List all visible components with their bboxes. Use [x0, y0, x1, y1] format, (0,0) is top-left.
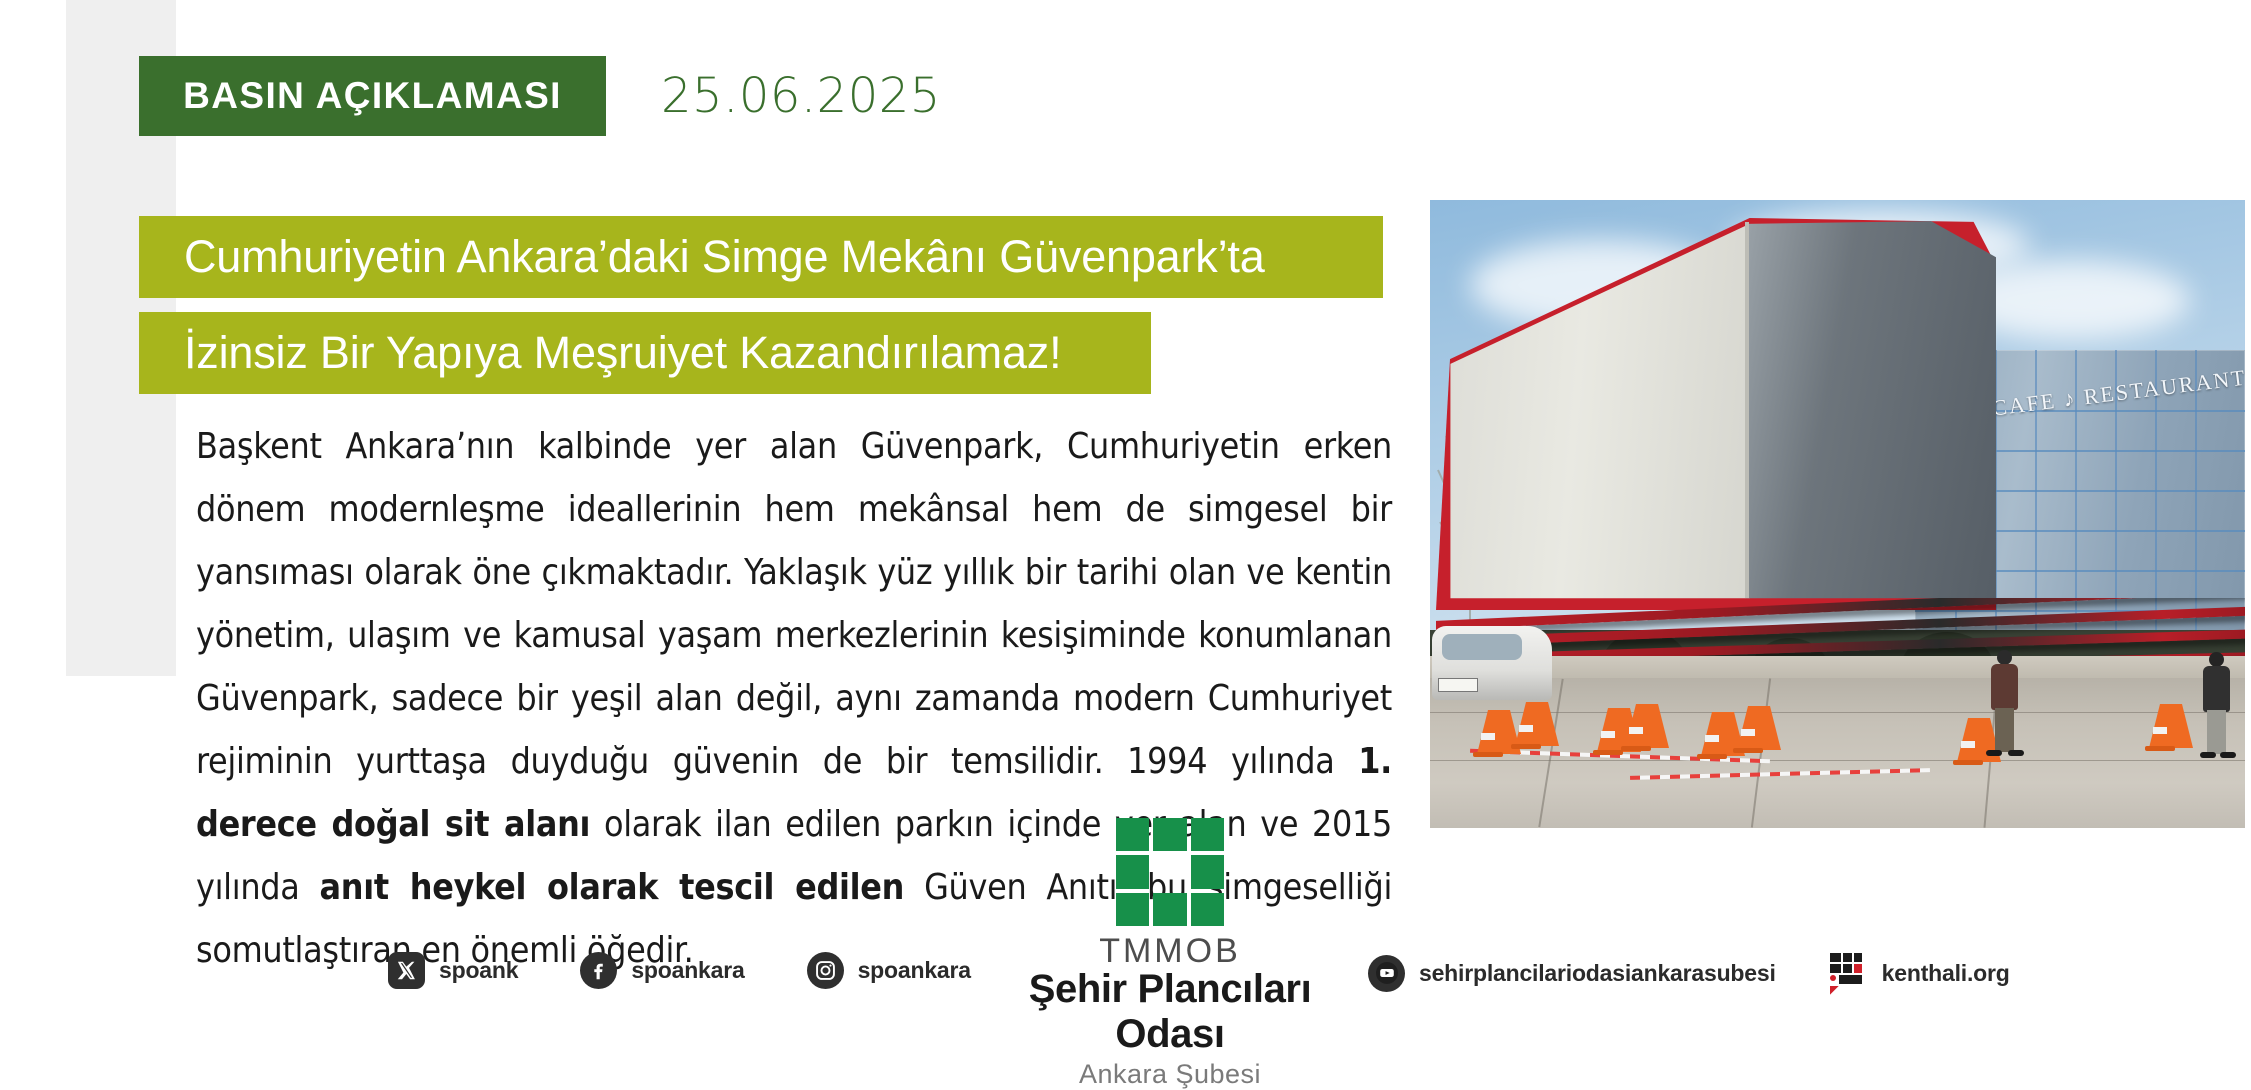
pedestrian-figure: [2202, 652, 2232, 760]
tmmob-logo-block: TMMOB Şehir Plancıları Odası Ankara Şube…: [1020, 818, 1320, 1090]
social-links-right: sehirplancilariodasiankarasubesi kenthal…: [1368, 952, 2010, 994]
social-link-x[interactable]: spoank: [388, 952, 518, 989]
youtube-icon: [1368, 955, 1405, 992]
parked-car: [1432, 626, 1552, 700]
hoarding-light-face: [1436, 218, 1750, 610]
hoarding-dark-face: [1746, 218, 1996, 610]
headline-bar-line-1: Cumhuriyetin Ankara’daki Simge Mekânı Gü…: [139, 216, 1383, 298]
facebook-icon: [580, 952, 617, 989]
headline-text-line-2: İzinsiz Bir Yapıya Meşruiyet Kazandırıla…: [184, 327, 1061, 379]
social-handle-youtube: sehirplancilariodasiankarasubesi: [1419, 960, 1776, 987]
social-link-youtube[interactable]: sehirplancilariodasiankarasubesi: [1368, 955, 1776, 992]
headline-text-line-1: Cumhuriyetin Ankara’daki Simge Mekânı Gü…: [184, 231, 1265, 283]
branch-name: Ankara Şubesi: [1020, 1059, 1320, 1090]
kenthali-logo-icon: [1828, 952, 1868, 994]
instagram-icon: [807, 952, 844, 989]
social-link-facebook[interactable]: spoankara: [580, 952, 744, 989]
hoarding-corner-seam: [1745, 222, 1749, 598]
press-release-badge-label: BASIN AÇIKLAMASI: [183, 75, 562, 117]
social-link-kenthali[interactable]: kenthali.org: [1828, 952, 2010, 994]
social-handle-instagram: spoankara: [858, 957, 971, 984]
tmmob-label: TMMOB: [1020, 932, 1320, 971]
social-handle-facebook: spoankara: [631, 957, 744, 984]
headline-bar-line-2: İzinsiz Bir Yapıya Meşruiyet Kazandırıla…: [139, 312, 1151, 394]
x-twitter-icon: [388, 952, 425, 989]
unauthorized-structure-hoarding: [1436, 218, 1996, 610]
body-bold-2: anıt heykel olarak tescil edilen: [320, 867, 905, 908]
press-release-photo: FLZ CAFE ♪ RESTAURANT KÜLTÜR COLIN’S: [1430, 200, 2245, 828]
social-link-instagram[interactable]: spoankara: [807, 952, 971, 989]
chamber-name: Şehir Plancıları Odası: [1020, 967, 1320, 1057]
social-handle-kenthali: kenthali.org: [1882, 960, 2010, 987]
pedestrian-figure: [1990, 650, 2020, 760]
social-links-left: spoank spoankara spoankara: [388, 952, 971, 989]
publication-date: 25.06.2025: [661, 68, 941, 124]
tmmob-grid-logo-icon: [1116, 818, 1224, 926]
body-part-1: Başkent Ankara’nın kalbinde yer alan Güv…: [196, 426, 1392, 782]
social-handle-x: spoank: [439, 957, 518, 984]
press-release-badge: BASIN AÇIKLAMASI: [139, 56, 606, 136]
